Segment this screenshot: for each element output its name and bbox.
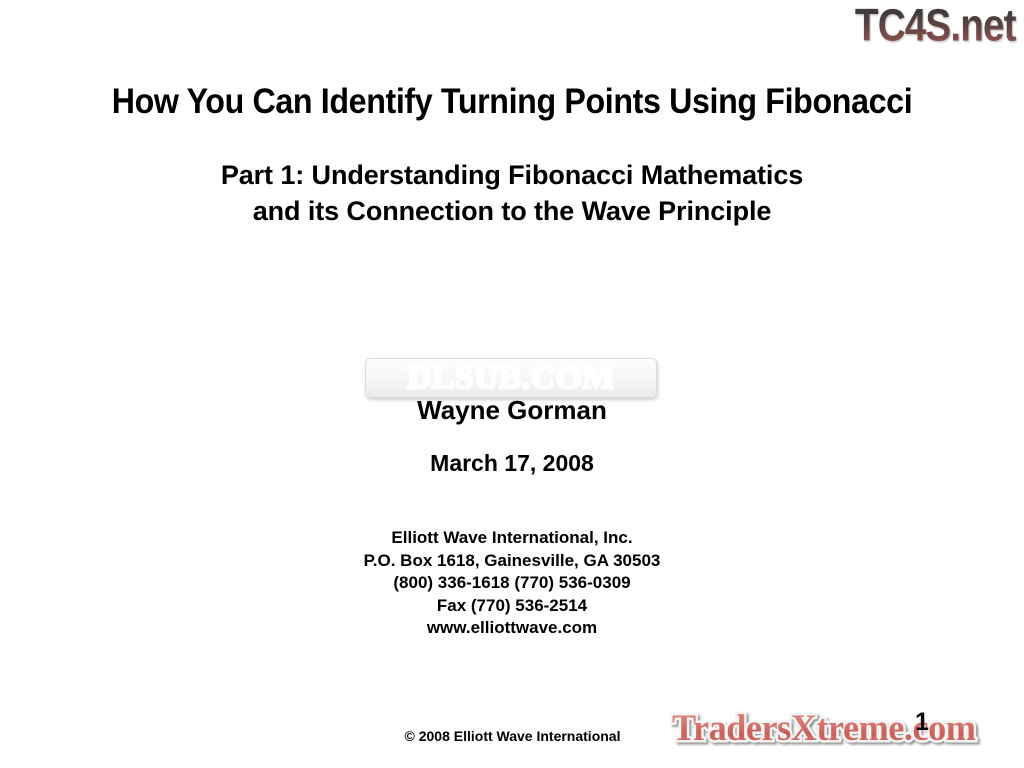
watermark-dlsub: DLSUB.COM DLSUB.COM (365, 358, 657, 398)
presenter-name: Wayne Gorman (0, 395, 1024, 425)
subtitle-line-2: and its Connection to the Wave Principle (0, 193, 1024, 229)
company-phones: (800) 336-1618 (770) 536-0309 (0, 572, 1024, 595)
watermark-tc4s: TC4S.net (855, 1, 1016, 51)
company-website: www.elliottwave.com (0, 617, 1024, 640)
slide-canvas: TC4S.net How You Can Identify Turning Po… (0, 0, 1024, 768)
presentation-date: March 17, 2008 (0, 450, 1024, 477)
company-address: P.O. Box 1618, Gainesville, GA 30503 (0, 550, 1024, 573)
watermark-tradersxtreme: TradersXtreme.com TradersXtreme.com (672, 706, 1020, 752)
slide-subtitle: Part 1: Understanding Fibonacci Mathemat… (0, 157, 1024, 229)
watermark-tradersxtreme-text: TradersXtreme.com (672, 708, 975, 750)
company-address-block: Elliott Wave International, Inc. P.O. Bo… (0, 527, 1024, 640)
page-number: 1 (915, 708, 929, 736)
company-name: Elliott Wave International, Inc. (0, 527, 1024, 550)
company-fax: Fax (770) 536-2514 (0, 595, 1024, 618)
watermark-dlsub-text: DLSUB.COM (407, 361, 615, 395)
subtitle-line-1: Part 1: Understanding Fibonacci Mathemat… (0, 157, 1024, 193)
slide-title: How You Can Identify Turning Points Usin… (41, 81, 983, 123)
